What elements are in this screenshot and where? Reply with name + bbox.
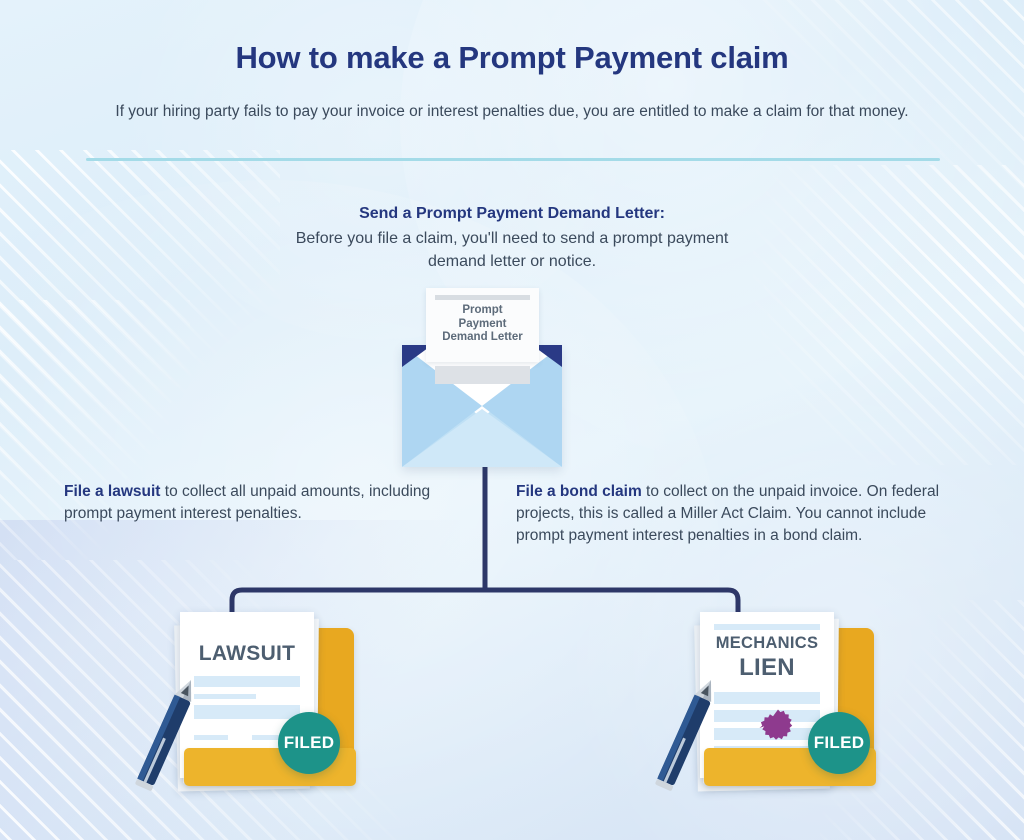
letter-title-line-1: Prompt [462,304,502,316]
filed-badge-label-right: FILED [814,733,865,753]
step-heading: Send a Prompt Payment Demand Letter: [0,205,1024,223]
filed-badge-left: FILED [278,712,340,774]
doc-text-bar [194,735,228,740]
doc-text-bar [194,694,256,699]
right-branch-description: File a bond claim to collect on the unpa… [516,481,956,547]
doc-text-bar [714,692,820,704]
page-subtitle: If your hiring party fails to pay your i… [0,103,1024,121]
letter-title: Prompt Payment Demand Letter [426,304,539,345]
step-body: Before you file a claim, you'll need to … [282,227,742,273]
letter-bar-top [435,295,530,300]
page-title: How to make a Prompt Payment claim [0,40,1024,76]
doc-text-bar [714,624,820,630]
diagonal-hatch-top-left [0,150,280,480]
mechanics-lien-title-line-1: MECHANICS [700,634,834,653]
envelope-illustration [402,345,562,467]
infographic-canvas: How to make a Prompt Payment claim If yo… [0,0,1024,840]
doc-text-bar [194,705,300,719]
left-branch-lead: File a lawsuit [64,483,160,500]
notary-seal-icon [758,708,798,748]
header-divider [86,158,940,161]
lawsuit-illustration: LAWSUIT FILED [170,600,370,810]
letter-title-line-3: Demand Letter [442,331,523,343]
mechanics-lien-title-line-2: LIEN [700,654,834,682]
doc-text-bar [194,676,300,687]
diagonal-hatch-top-right [760,0,1024,190]
lawsuit-document-title: LAWSUIT [180,642,314,666]
filed-badge-right: FILED [808,712,870,774]
envelope-fold-bottom [402,409,562,467]
letter-title-line-2: Payment [459,318,507,330]
left-branch-description: File a lawsuit to collect all unpaid amo… [64,481,464,525]
bond-claim-illustration: MECHANICS LIEN FILED [690,600,890,810]
filed-badge-label-left: FILED [284,733,335,753]
right-branch-lead: File a bond claim [516,483,642,500]
letter-bar-bottom [435,366,530,384]
demand-letter-page: Prompt Payment Demand Letter [426,288,539,362]
